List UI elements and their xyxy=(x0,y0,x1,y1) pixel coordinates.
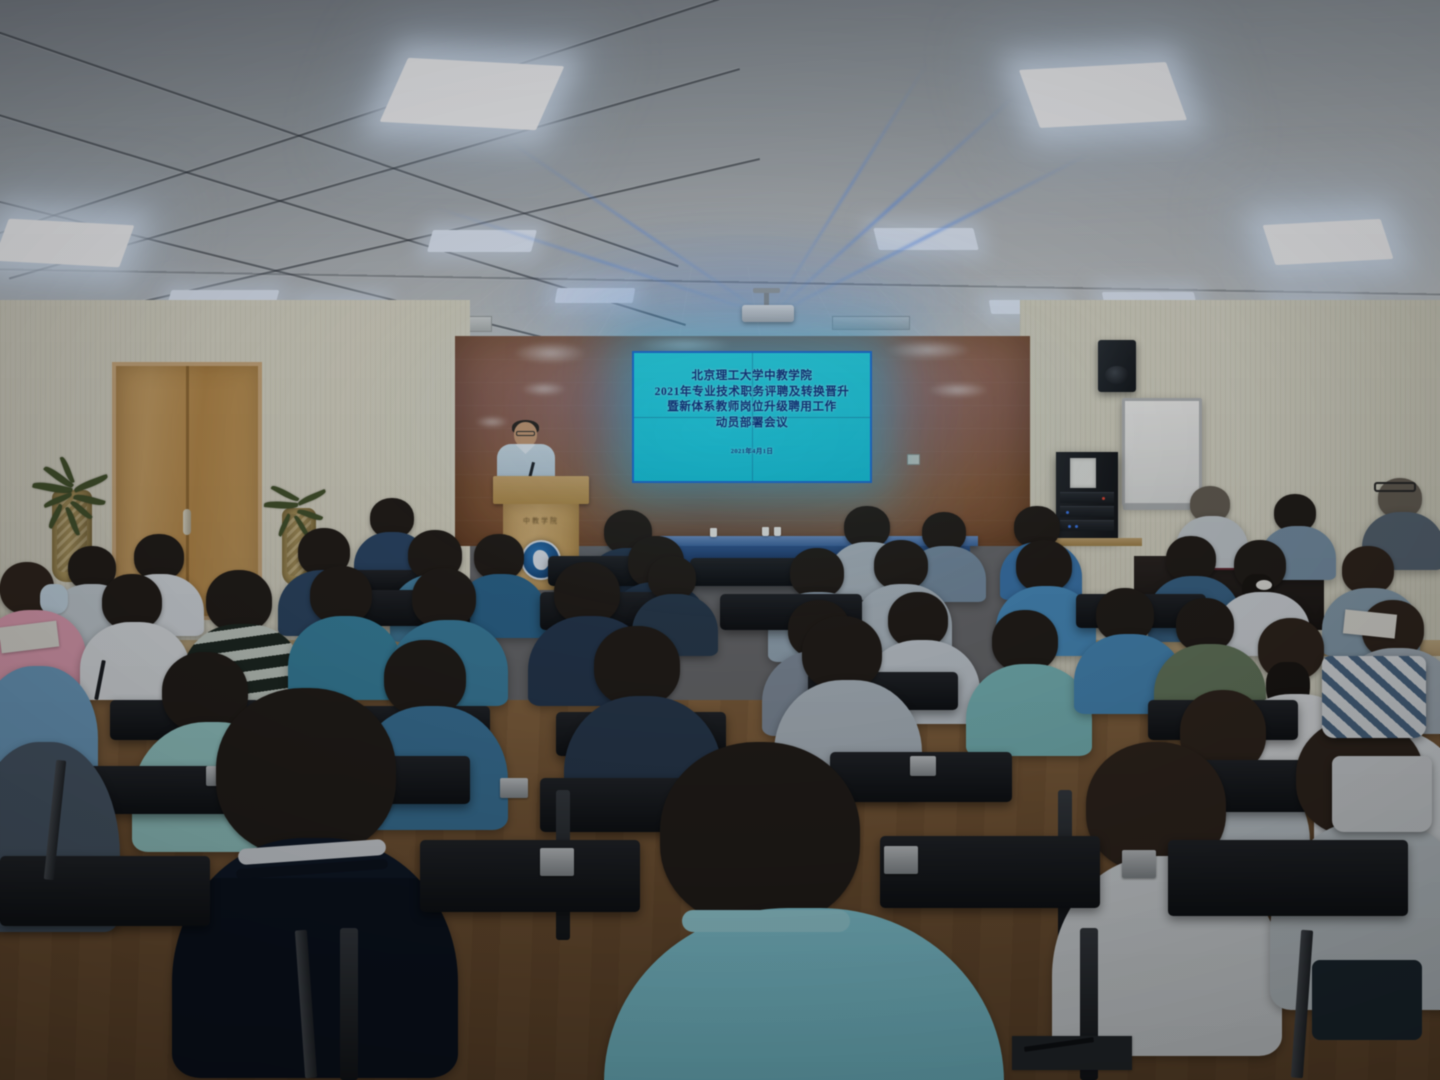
person-head xyxy=(216,688,396,856)
folding-chair-back xyxy=(420,840,640,912)
conference-room-photo: 北京理工大学中教学院 2021年专业技术职务评聘及转换晋升 暨新体系教师岗位升级… xyxy=(0,0,1440,1080)
person-torso xyxy=(604,908,1004,1080)
hair-tie xyxy=(1256,580,1272,590)
person-torso xyxy=(966,664,1092,756)
chair-hinge xyxy=(500,778,528,798)
chair-hinge xyxy=(1122,850,1156,878)
folding-chair-back xyxy=(0,856,210,926)
person-head xyxy=(660,742,860,926)
chair-frame-bar xyxy=(340,928,358,1080)
person-head xyxy=(206,570,272,632)
handbag xyxy=(1322,656,1426,738)
chair-hinge xyxy=(884,846,918,874)
person-head xyxy=(802,616,882,690)
person-head xyxy=(594,626,680,706)
person-head xyxy=(384,640,466,716)
eyeglasses-icon xyxy=(1374,482,1416,492)
audience-area xyxy=(0,0,1440,1080)
person-head xyxy=(992,610,1058,672)
backpack xyxy=(1312,960,1422,1040)
chair-hinge xyxy=(540,848,574,876)
person-head xyxy=(554,562,620,624)
shirt-collar xyxy=(682,910,850,932)
chair-hinge xyxy=(910,756,936,776)
person-head xyxy=(412,568,476,628)
person-torso xyxy=(172,838,458,1078)
person-head xyxy=(790,548,844,598)
person-head xyxy=(1016,540,1072,592)
person-head xyxy=(1342,546,1394,594)
person-head xyxy=(874,540,928,590)
folding-chair-back xyxy=(1168,840,1408,916)
handbag xyxy=(1332,756,1432,832)
